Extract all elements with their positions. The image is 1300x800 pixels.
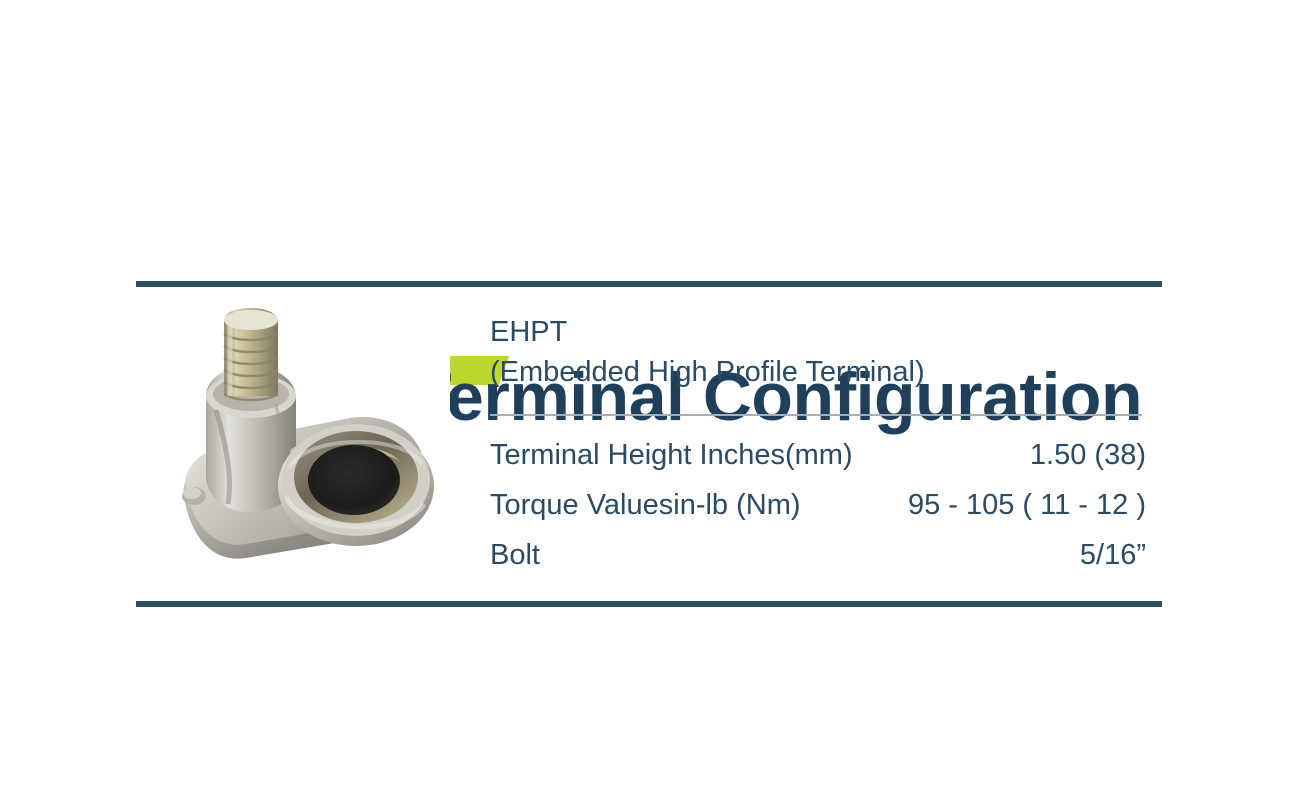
spec-value: 95 - 105 ( 11 - 12 ) — [908, 480, 1146, 530]
spec-label: Torque Valuesin-lb (Nm) — [490, 480, 801, 530]
spec-label: Bolt — [490, 530, 540, 580]
divider-spec — [490, 414, 1142, 416]
terminal-product-image — [150, 300, 450, 590]
terminal-configuration-page: Terminal Configuration — [0, 0, 1300, 800]
specification-panel: EHPT (Embedded High Profile Terminal) Te… — [490, 312, 1146, 580]
divider-bottom — [136, 601, 1162, 607]
battery-terminal-photo-icon — [150, 300, 450, 590]
divider-top — [136, 281, 1162, 287]
terminal-full-name: (Embedded High Profile Terminal) — [490, 352, 1146, 392]
terminal-code: EHPT — [490, 312, 1146, 352]
spec-row-bolt: Bolt 5/16” — [490, 530, 1146, 580]
spec-label: Terminal Height Inches(mm) — [490, 430, 853, 480]
specification-list: Terminal Height Inches(mm) 1.50 (38) Tor… — [490, 430, 1146, 580]
spec-value: 5/16” — [1080, 530, 1146, 580]
page-header: Terminal Configuration — [0, 170, 1300, 280]
spec-row-torque-values: Torque Valuesin-lb (Nm) 95 - 105 ( 11 - … — [490, 480, 1146, 530]
spec-value: 1.50 (38) — [1030, 430, 1146, 480]
spec-row-terminal-height: Terminal Height Inches(mm) 1.50 (38) — [490, 430, 1146, 480]
